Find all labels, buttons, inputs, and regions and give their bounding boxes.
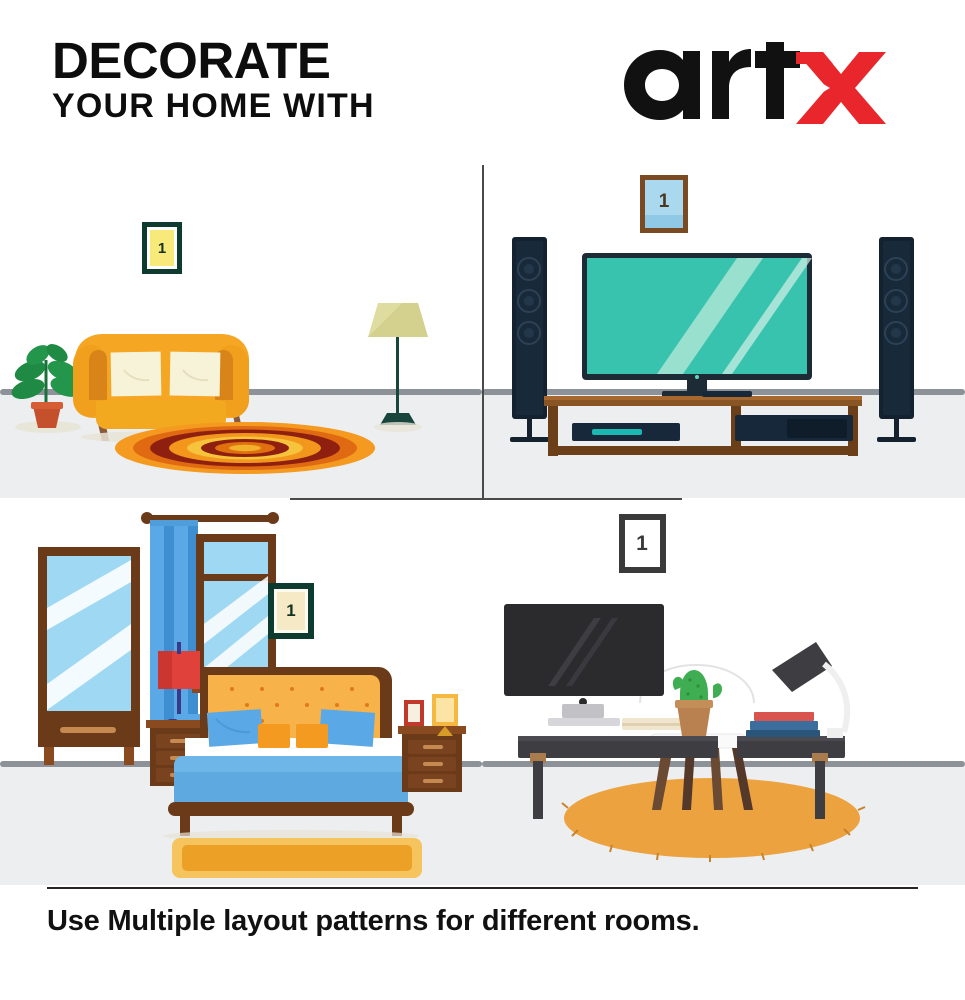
frame-label-tv: 1 [659,191,670,212]
poster-header: DECORATE YOUR HOME WITH [0,0,965,165]
poster-root: DECORATE YOUR HOME WITH [0,0,965,1000]
headline-line-1: DECORATE [52,38,375,85]
frame-label-bedroom: 1 [286,601,295,620]
brand-logo [616,42,916,128]
book-stack-icon [746,712,820,737]
caption-rule [47,887,918,889]
bed-icon [163,667,419,842]
rectangular-rug-icon [172,838,422,878]
headline-line-2: YOUR HOME WITH [52,91,375,122]
scene-home-office: 1 [482,498,965,885]
tower-speaker-right-icon [877,237,916,442]
nightstand-right-icon [398,694,466,792]
wall-art-frame-office[interactable]: 1 [619,514,666,573]
frame-label-living: 1 [158,240,166,257]
mirror-cabinet-icon [38,547,140,765]
wall-art-frame-tv[interactable]: 1 [640,175,688,233]
frame-label-office: 1 [636,532,648,555]
page-title: DECORATE YOUR HOME WITH [52,38,375,122]
scene-bedroom: 1 [0,498,482,885]
wall-art-frame-bedroom[interactable]: 1 [268,583,314,639]
television-icon [582,253,812,398]
vertical-divider [482,165,484,498]
scene-living-room: 1 [0,165,482,498]
keyboard-icon [622,718,684,730]
footer-caption: Use Multiple layout patterns for differe… [47,905,918,938]
round-rug-icon [115,422,375,474]
tower-speaker-left-icon [510,237,549,442]
horizontal-divider [290,498,682,500]
scene-tv-room: 1 [482,165,965,498]
wall-art-frame-living[interactable]: 1 [142,222,182,274]
